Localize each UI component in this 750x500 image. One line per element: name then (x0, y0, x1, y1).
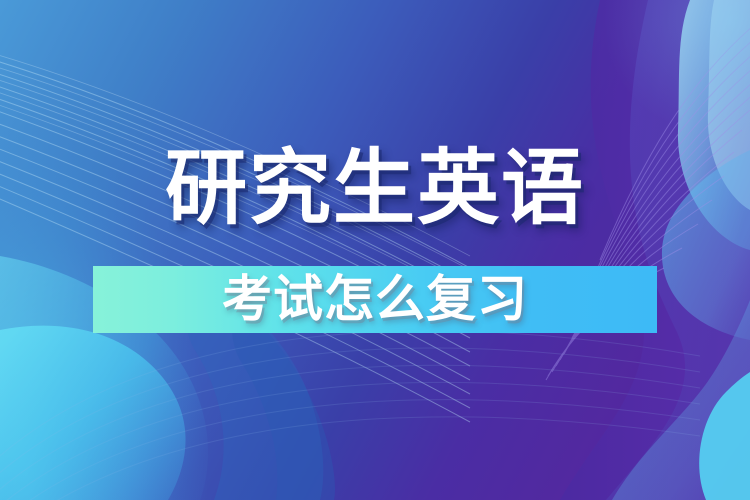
background-decoration (0, 0, 750, 500)
page-title: 研究生英语 (165, 148, 585, 230)
subtitle-container: 考试怎么复习 (93, 266, 657, 333)
promo-banner: 研究生英语 考试怎么复习 (0, 0, 750, 500)
page-subtitle: 考试怎么复习 (222, 274, 528, 324)
title-container: 研究生英语 (0, 148, 750, 230)
